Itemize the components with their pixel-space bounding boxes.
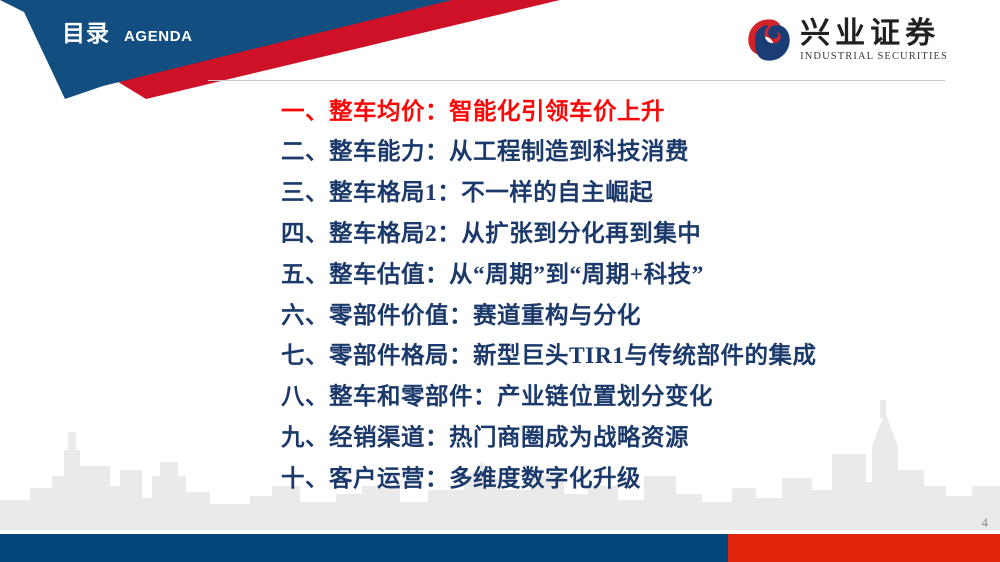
agenda-item-label: 整车格局2：从扩张到分化再到集中 [329,223,701,247]
agenda-item-number: 二、 [281,141,329,165]
agenda-item[interactable]: 五、整车估值：从“周期”到“周期+科技” [281,255,941,296]
agenda-item-label: 整车格局1：不一样的自主崛起 [329,182,653,206]
agenda-item[interactable]: 三、整车格局1：不一样的自主崛起 [281,174,941,215]
slide-canvas: 目录 AGENDA 兴业证券 INDUSTRIAL SECURITIES [0,0,1000,562]
agenda-item[interactable]: 八、整车和零部件：产业链位置划分变化 [281,378,941,419]
header-red-wedge [110,0,560,99]
header-title-group: 目录 AGENDA [62,22,193,45]
agenda-item-label: 零部件格局：新型巨头TIR1与传统部件的集成 [329,345,817,369]
agenda-item-label: 客户运营：多维度数字化升级 [329,468,641,492]
agenda-item-label: 整车和零部件：产业链位置划分变化 [329,386,713,410]
agenda-item-label: 整车能力：从工程制造到科技消费 [329,141,689,165]
agenda-item[interactable]: 二、整车能力：从工程制造到科技消费 [281,133,941,174]
page-title-en: AGENDA [124,29,193,44]
agenda-item-number: 三、 [281,182,329,206]
agenda-item[interactable]: 一、整车均价：智能化引领车价上升 [281,92,941,133]
agenda-item-number: 四、 [281,223,329,247]
agenda-item-label: 经销渠道：热门商圈成为战略资源 [329,427,689,451]
agenda-item-number: 七、 [281,345,329,369]
agenda-item-number: 六、 [281,305,329,329]
agenda-item[interactable]: 九、经销渠道：热门商圈成为战略资源 [281,418,941,459]
agenda-item-label: 零部件价值：赛道重构与分化 [329,305,641,329]
agenda-item[interactable]: 四、整车格局2：从扩张到分化再到集中 [281,214,941,255]
logo-name-cn: 兴业证券 [800,18,940,50]
agenda-item[interactable]: 七、零部件格局：新型巨头TIR1与传统部件的集成 [281,337,941,378]
agenda-item-number: 五、 [281,264,329,288]
header-blue-banner [0,0,452,99]
agenda-item-number: 八、 [281,386,329,410]
agenda-item[interactable]: 六、零部件价值：赛道重构与分化 [281,296,941,337]
logo-name-en: INDUSTRIAL SECURITIES [800,52,948,63]
company-logo: 兴业证券 INDUSTRIAL SECURITIES [747,18,948,62]
header-divider [208,80,945,81]
page-title-cn: 目录 [62,22,110,45]
agenda-item-number: 一、 [281,101,329,125]
agenda-item-number: 九、 [281,427,329,451]
footer-bar [0,534,1000,562]
agenda-item-label: 整车均价：智能化引领车价上升 [329,101,665,125]
footer-bar-blue [0,534,728,562]
logo-text-block: 兴业证券 INDUSTRIAL SECURITIES [800,18,948,62]
page-number: 4 [982,516,989,529]
agenda-item-number: 十、 [281,468,329,492]
agenda-list: 一、整车均价：智能化引领车价上升 二、整车能力：从工程制造到科技消费 三、整车格… [281,92,941,500]
swirl-emblem-icon [747,18,791,62]
agenda-item[interactable]: 十、客户运营：多维度数字化升级 [281,459,941,500]
agenda-item-label: 整车估值：从“周期”到“周期+科技” [329,264,704,288]
footer-bar-red [728,534,1000,562]
